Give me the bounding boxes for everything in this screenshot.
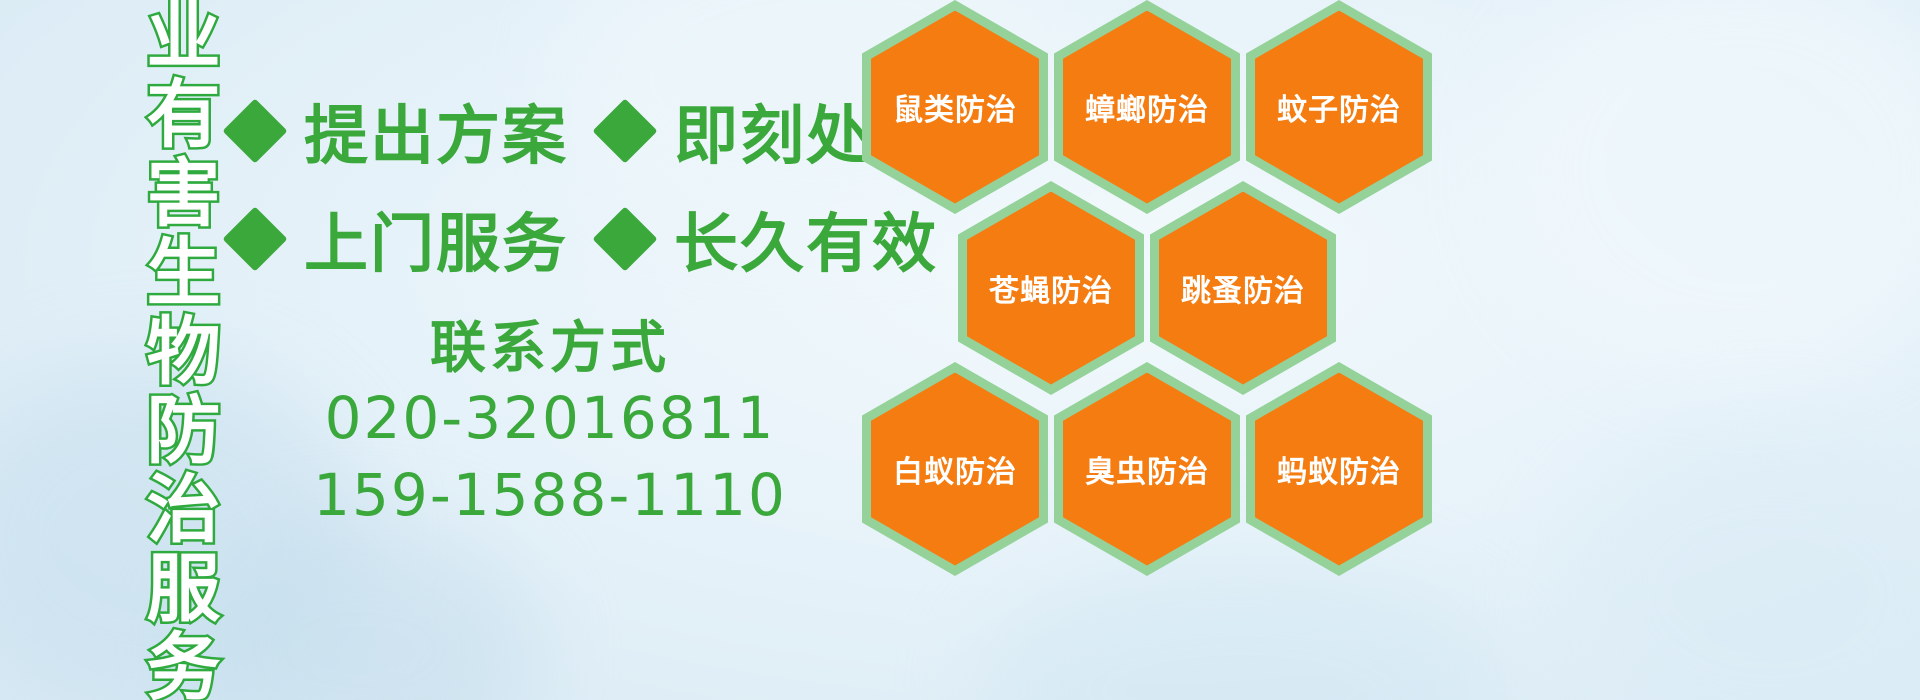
feature-row-1: 提出方案 即刻处理	[232, 85, 938, 177]
hex-inner: 蚊子防治	[1255, 11, 1423, 204]
contact-block: 联系方式 020-32016811 159-1588-1110	[300, 316, 800, 533]
background-blob	[180, 520, 540, 700]
phone-mobile[interactable]: 159-1588-1110	[300, 457, 800, 534]
diamond-icon	[592, 98, 657, 163]
hex-inner: 蚂蚁防治	[1255, 373, 1423, 566]
service-label: 蚂蚁防治	[1277, 447, 1401, 491]
service-hex-flea[interactable]: 跳蚤防治	[1150, 181, 1336, 395]
hex-inner: 白蚁防治	[871, 373, 1039, 566]
feature-label-onsite-service: 上门服务	[304, 193, 568, 285]
hex-inner: 臭虫防治	[1063, 373, 1231, 566]
hex-inner: 苍蝇防治	[967, 192, 1135, 385]
service-hex-ant[interactable]: 蚂蚁防治	[1246, 362, 1432, 576]
service-label: 苍蝇防治	[989, 266, 1113, 310]
service-hex-termite[interactable]: 白蚁防治	[862, 362, 1048, 576]
vertical-headline: 专业有害生物防治服务	[96, 12, 214, 612]
feature-label-propose-plan: 提出方案	[304, 85, 568, 177]
background-blob	[980, 560, 1500, 700]
service-hex-bedbug[interactable]: 臭虫防治	[1054, 362, 1240, 576]
phone-landline[interactable]: 020-32016811	[300, 380, 800, 457]
service-label: 跳蚤防治	[1181, 266, 1305, 310]
service-hex-mosquito[interactable]: 蚊子防治	[1246, 0, 1432, 214]
service-hex-cockroach[interactable]: 蟑螂防治	[1054, 0, 1240, 214]
feature-row-2: 上门服务 长久有效	[232, 193, 938, 285]
diamond-icon	[592, 206, 657, 271]
service-hex-rodent[interactable]: 鼠类防治	[862, 0, 1048, 214]
service-label: 鼠类防治	[893, 85, 1017, 129]
diamond-icon	[222, 98, 287, 163]
service-label: 蚊子防治	[1277, 85, 1401, 129]
hex-inner: 蟑螂防治	[1063, 11, 1231, 204]
diamond-icon	[222, 206, 287, 271]
background-blob	[1500, 0, 1920, 380]
hex-inner: 鼠类防治	[871, 11, 1039, 204]
service-label: 臭虫防治	[1085, 447, 1209, 491]
service-label: 白蚁防治	[893, 447, 1017, 491]
banner-canvas: 专业有害生物防治服务 提出方案 即刻处理 上门服务 长久有效 联系方式 020-…	[0, 0, 1920, 700]
service-hex-fly[interactable]: 苍蝇防治	[958, 181, 1144, 395]
background-blob	[1560, 430, 1920, 700]
hex-inner: 跳蚤防治	[1159, 192, 1327, 385]
service-label: 蟑螂防治	[1085, 85, 1209, 129]
contact-heading: 联系方式	[300, 316, 800, 380]
service-honeycomb: 鼠类防治 蟑螂防治 蚊子防治 苍蝇防治 跳蚤防治 白蚁防治	[862, 0, 1462, 554]
